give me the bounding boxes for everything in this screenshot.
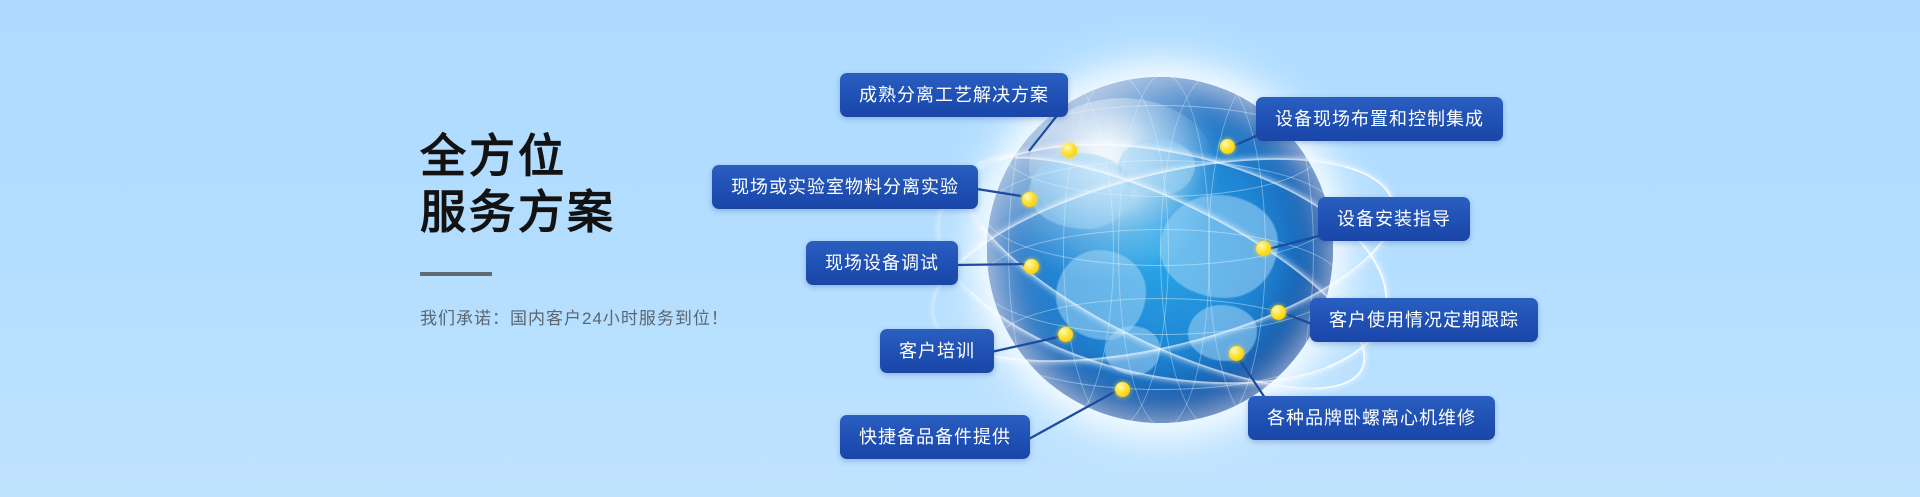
node-dot	[1220, 139, 1235, 154]
service-label-material-separation-test[interactable]: 现场或实验室物料分离实验	[712, 165, 978, 209]
service-label-customer-training[interactable]: 客户培训	[880, 329, 994, 373]
headline-block: 全方位 服务方案 我们承诺：国内客户24小时服务到位！	[420, 128, 840, 329]
service-label-installation-guidance[interactable]: 设备安装指导	[1318, 197, 1470, 241]
node-dot	[1022, 192, 1037, 207]
node-dot	[1256, 241, 1271, 256]
service-plan-banner: 全方位 服务方案 我们承诺：国内客户24小时服务到位！	[0, 0, 1920, 497]
node-dot	[1062, 143, 1077, 158]
title-divider	[420, 272, 492, 276]
node-dot	[1024, 259, 1039, 274]
service-label-decanter-centrifuge-repair[interactable]: 各种品牌卧螺离心机维修	[1248, 396, 1495, 440]
service-label-spare-parts-supply[interactable]: 快捷备品备件提供	[840, 415, 1030, 459]
service-label-mature-process[interactable]: 成熟分离工艺解决方案	[840, 73, 1068, 117]
promise-text: 我们承诺：国内客户24小时服务到位！	[420, 304, 840, 329]
service-label-usage-followup[interactable]: 客户使用情况定期跟踪	[1310, 298, 1538, 342]
node-dot	[1229, 346, 1244, 361]
node-dot	[1271, 305, 1286, 320]
service-label-site-layout-control-integration[interactable]: 设备现场布置和控制集成	[1256, 97, 1503, 141]
node-dot	[1058, 327, 1073, 342]
node-dot	[1115, 382, 1130, 397]
service-label-onsite-commissioning[interactable]: 现场设备调试	[806, 241, 958, 285]
